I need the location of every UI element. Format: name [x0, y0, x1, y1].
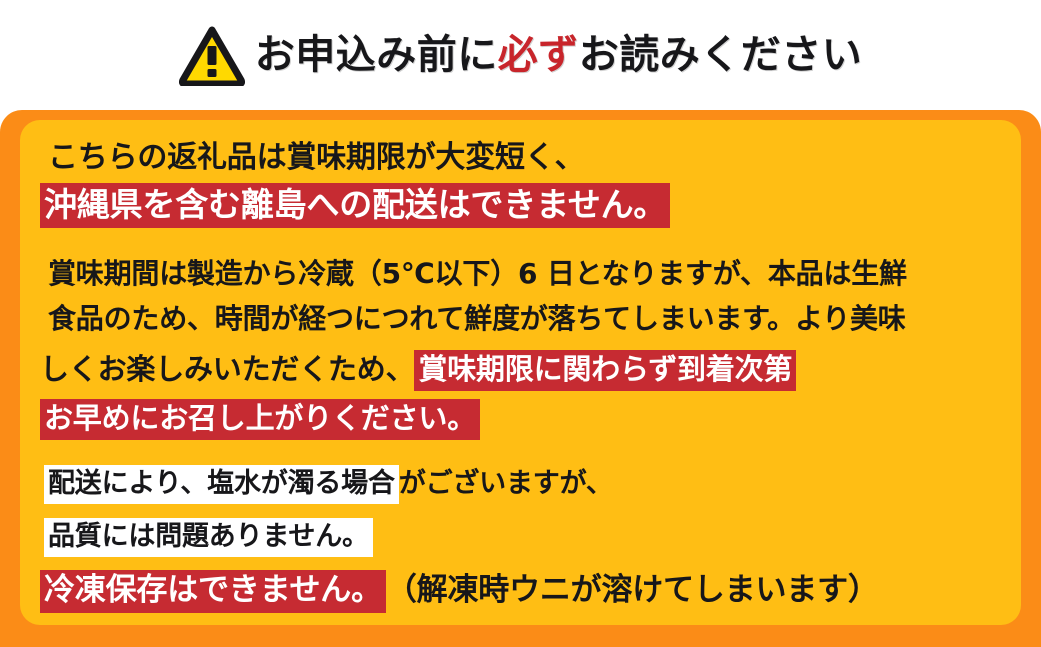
- notice-line-7: 配送により、塩水が濁る場合がございますが、: [44, 465, 613, 504]
- highlight-segment-white: 品質には問題ありません。: [44, 518, 373, 557]
- text-segment: （解凍時ウニが溶けてしまいます）: [386, 570, 879, 613]
- header-title-suffix: お読みください: [579, 32, 863, 78]
- header-title-emphasis: 必ず: [498, 32, 579, 78]
- notice-line-2: 沖縄県を含む離島への配送はできません。: [40, 183, 670, 228]
- text-segment: がございますが、: [399, 465, 613, 504]
- notice-line-1: こちらの返礼品は賞味期限が大変短く、: [44, 138, 588, 180]
- notice-banner: お申込み前に必ずお読みください こちらの返礼品は賞味期限が大変短く、 沖縄県を含…: [0, 0, 1041, 647]
- notice-line-5: しくお楽しみいただくため、賞味期限に関わらず到着次第: [40, 350, 796, 391]
- notice-header: お申込み前に必ずお読みください: [0, 0, 1041, 110]
- text-segment: しくお楽しみいただくため、: [40, 350, 414, 391]
- notice-line-9: 冷凍保存はできません。（解凍時ウニが溶けてしまいます）: [40, 570, 879, 613]
- notice-line-6: お早めにお召し上がりください。: [40, 399, 480, 440]
- text-segment: 食品のため、時間が経つにつれて鮮度が落ちてしまいます。より美味: [44, 300, 910, 340]
- text-segment: こちらの返礼品は賞味期限が大変短く、: [44, 138, 588, 180]
- text-segment: 賞味期間は製造から冷蔵（5℃以下）6 日となりますが、本品は生鮮: [44, 255, 911, 295]
- highlight-segment-red: 沖縄県を含む離島への配送はできません。: [40, 183, 670, 228]
- header-title-prefix: お申込み前に: [255, 32, 498, 78]
- notice-line-4: 食品のため、時間が経つにつれて鮮度が落ちてしまいます。より美味: [44, 300, 910, 340]
- highlight-segment-white: 配送により、塩水が濁る場合: [44, 465, 399, 504]
- highlight-segment-red: 冷凍保存はできません。: [40, 570, 386, 613]
- notice-line-3: 賞味期間は製造から冷蔵（5℃以下）6 日となりますが、本品は生鮮: [44, 255, 911, 295]
- highlight-segment-red: 賞味期限に関わらず到着次第: [414, 350, 796, 391]
- warning-triangle-icon: [179, 26, 245, 86]
- header-title: お申込み前に必ずお読みください: [255, 35, 863, 75]
- highlight-segment-red: お早めにお召し上がりください。: [40, 399, 480, 440]
- notice-line-8: 品質には問題ありません。: [44, 518, 373, 557]
